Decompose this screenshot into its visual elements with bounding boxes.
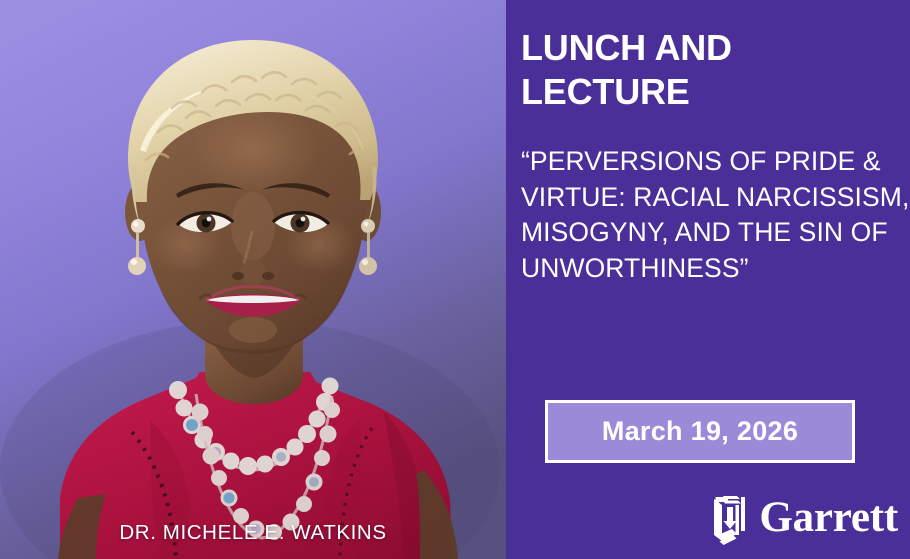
event-date: March 19, 2026 xyxy=(602,416,798,447)
lecture-title: “Perversions of Pride & Virtue: Racial N… xyxy=(521,144,910,287)
portrait-photo-panel: DR. MICHELE E. WATKINS xyxy=(0,0,506,559)
event-poster: DR. MICHELE E. WATKINS Lunch and Lecture… xyxy=(0,0,910,559)
event-headline: Lunch and Lecture xyxy=(521,26,901,113)
info-panel: Lunch and Lecture “Perversions of Pride … xyxy=(506,0,910,559)
event-date-box: March 19, 2026 xyxy=(545,400,855,463)
speaker-name-caption: DR. MICHELE E. WATKINS xyxy=(0,521,506,545)
garrett-wordmark: Garrett xyxy=(759,496,898,543)
garrett-logo-lockup: Garrett xyxy=(710,491,898,547)
garrett-book-torch-mark xyxy=(710,491,750,547)
speaker-portrait-image xyxy=(0,0,506,559)
